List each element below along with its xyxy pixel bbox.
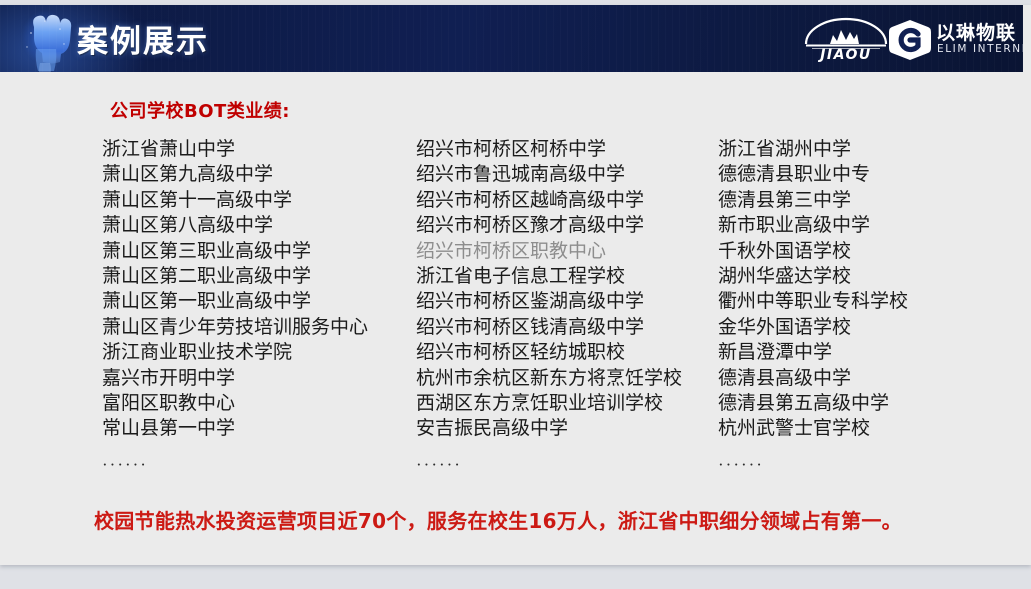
g-hexagon-icon [888,19,932,61]
column-spacer [102,442,368,452]
school-column-1: 浙江省萧山中学萧山区第九高级中学萧山区第十一高级中学萧山区第八高级中学萧山区第三… [102,137,368,477]
school-name: 浙江商业职业技术学院 [102,340,368,365]
school-column-2: 绍兴市柯桥区柯桥中学绍兴市鲁迅城南高级中学绍兴市柯桥区越崎高级中学绍兴市柯桥区豫… [416,137,682,477]
school-name: 西湖区东方烹饪职业培训学校 [416,391,682,416]
school-name: 德德清县职业中专 [718,162,908,187]
jiaou-logo: JIAOU [792,17,900,63]
school-name: 浙江省电子信息工程学校 [416,264,682,289]
elim-english-name: ELIM INTERNET [937,43,1023,55]
school-name: 萧山区第十一高级中学 [102,188,368,213]
school-column-3: 浙江省湖州中学德德清县职业中专德清县第三中学新市职业高级中学千秋外国语学校湖州华… [718,137,908,477]
school-name: 金华外国语学校 [718,315,908,340]
raised-fist-icon [14,7,76,72]
school-name: 绍兴市柯桥区钱清高级中学 [416,315,682,340]
school-name: 杭州武警士官学校 [718,416,908,441]
school-name: 绍兴市柯桥区鉴湖高级中学 [416,289,682,314]
sunrise-arch-icon [792,17,900,49]
school-name: 湖州华盛达学校 [718,264,908,289]
school-name: 绍兴市柯桥区豫才高级中学 [416,213,682,238]
school-name: 新昌澄潭中学 [718,340,908,365]
ellipsis-more: ······ [718,452,908,477]
school-name: 萧山区第八高级中学 [102,213,368,238]
summary-note: 校园节能热水投资运营项目近70个，服务在校生16万人，浙江省中职细分领域占有第一… [94,505,902,534]
school-name: 千秋外国语学校 [718,239,908,264]
school-name: 绍兴市鲁迅城南高级中学 [416,162,682,187]
school-name: 绍兴市柯桥区柯桥中学 [416,137,682,162]
school-name: 浙江省湖州中学 [718,137,908,162]
school-name: 绍兴市柯桥区职教中心 [416,239,682,264]
column-spacer [718,442,908,452]
school-name: 富阳区职教中心 [102,391,368,416]
school-name: 浙江省萧山中学 [102,137,368,162]
school-name: 德清县高级中学 [718,366,908,391]
school-name: 绍兴市柯桥区轻纺城职校 [416,340,682,365]
school-name: 常山县第一中学 [102,416,368,441]
school-name: 杭州市余杭区新东方将烹饪学校 [416,366,682,391]
column-spacer [416,442,682,452]
school-name: 德清县第五高级中学 [718,391,908,416]
section-title: 公司学校BOT类业绩: [110,97,290,123]
school-name: 萧山区第三职业高级中学 [102,239,368,264]
slide-header: 案例展示 JIAOU 以琳物联 ELIM INTERNET [0,5,1023,72]
slide-panel: 案例展示 JIAOU 以琳物联 ELIM INTERNET 公司学校BOT类业绩… [0,5,1031,565]
school-name: 嘉兴市开明中学 [102,366,368,391]
page-title: 案例展示 [77,16,209,61]
school-name: 衢州中等职业专科学校 [718,289,908,314]
school-name: 萧山区第九高级中学 [102,162,368,187]
school-name: 德清县第三中学 [718,188,908,213]
ellipsis-more: ······ [416,452,682,477]
school-name: 安吉振民高级中学 [416,416,682,441]
elim-logo: 以琳物联 ELIM INTERNET [888,18,1023,62]
school-name: 萧山区第一职业高级中学 [102,289,368,314]
elim-chinese-name: 以琳物联 [936,18,1016,45]
school-name: 萧山区青少年劳技培训服务中心 [102,315,368,340]
school-name: 绍兴市柯桥区越崎高级中学 [416,188,682,213]
jiaou-wordmark: JIAOU [792,47,900,63]
school-name: 新市职业高级中学 [718,213,908,238]
school-name: 萧山区第二职业高级中学 [102,264,368,289]
school-columns: 浙江省萧山中学萧山区第九高级中学萧山区第十一高级中学萧山区第八高级中学萧山区第三… [0,137,1031,467]
ellipsis-more: ······ [102,452,368,477]
